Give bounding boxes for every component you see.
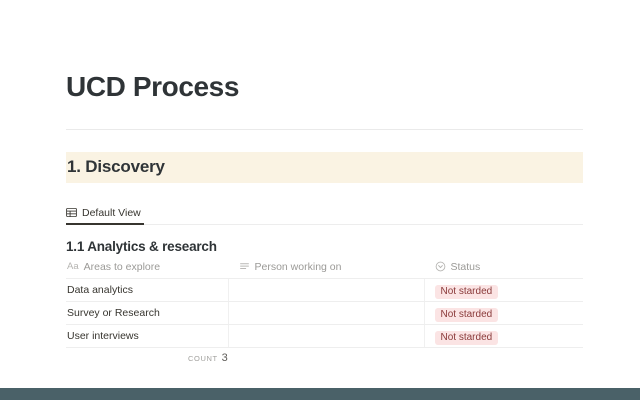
column-header-label: Areas to explore	[84, 261, 160, 273]
column-header-label: Status	[451, 261, 481, 273]
cell-area-text: User interviews	[66, 325, 228, 347]
cell-area[interactable]: User interviews	[66, 324, 228, 347]
view-tabs-bar: Default View	[66, 203, 583, 225]
cell-area-text: Survey or Research	[66, 302, 228, 324]
cell-person[interactable]	[228, 278, 424, 301]
section-heading-label: 1. Discovery	[67, 157, 165, 177]
cell-status[interactable]: Not starded	[424, 324, 583, 347]
cell-area[interactable]: Survey or Research	[66, 301, 228, 324]
cell-person[interactable]	[228, 324, 424, 347]
cell-area-text: Data analytics	[66, 279, 228, 301]
select-circle-chevron-icon	[435, 261, 446, 272]
cell-person[interactable]	[228, 301, 424, 324]
count-summary[interactable]: Count 3	[188, 352, 228, 364]
table-footer: Count 3	[66, 352, 583, 368]
cell-status[interactable]: Not starded	[424, 278, 583, 301]
page-title: UCD Process	[66, 0, 583, 103]
multi-line-text-icon	[239, 261, 250, 272]
status-badge: Not starded	[435, 308, 499, 322]
table-row[interactable]: Data analytics Not starded	[66, 278, 583, 301]
table-body: Data analytics Not starded Survey or Res…	[66, 278, 583, 347]
bottom-bar	[0, 388, 640, 400]
title-divider	[66, 129, 583, 130]
database-table: Aa Areas to explore	[66, 261, 583, 348]
table-header-row: Aa Areas to explore	[66, 261, 583, 279]
status-badge: Not starded	[435, 285, 499, 299]
status-badge: Not starded	[435, 331, 499, 345]
column-header-status[interactable]: Status	[424, 261, 583, 279]
tab-default-view-label: Default View	[82, 207, 141, 219]
count-value: 3	[222, 352, 228, 364]
document-page: UCD Process 1. Discovery Default View	[0, 0, 640, 388]
cell-status[interactable]: Not starded	[424, 301, 583, 324]
section-heading-discovery: 1. Discovery	[66, 152, 583, 183]
table-row[interactable]: Survey or Research Not starded	[66, 301, 583, 324]
text-type-icon: Aa	[67, 261, 79, 272]
tab-active-indicator	[66, 223, 144, 225]
page-content: UCD Process 1. Discovery Default View	[66, 0, 583, 388]
database-title: 1.1 Analytics & research	[66, 239, 583, 254]
tab-default-view[interactable]: Default View	[66, 203, 145, 223]
table-row[interactable]: User interviews Not starded	[66, 324, 583, 347]
column-header-areas-to-explore[interactable]: Aa Areas to explore	[66, 261, 228, 279]
count-label: Count	[188, 354, 218, 363]
column-header-person-working-on[interactable]: Person working on	[228, 261, 424, 279]
cell-area[interactable]: Data analytics	[66, 278, 228, 301]
table-grid-icon	[66, 207, 77, 218]
column-header-label: Person working on	[255, 261, 342, 273]
